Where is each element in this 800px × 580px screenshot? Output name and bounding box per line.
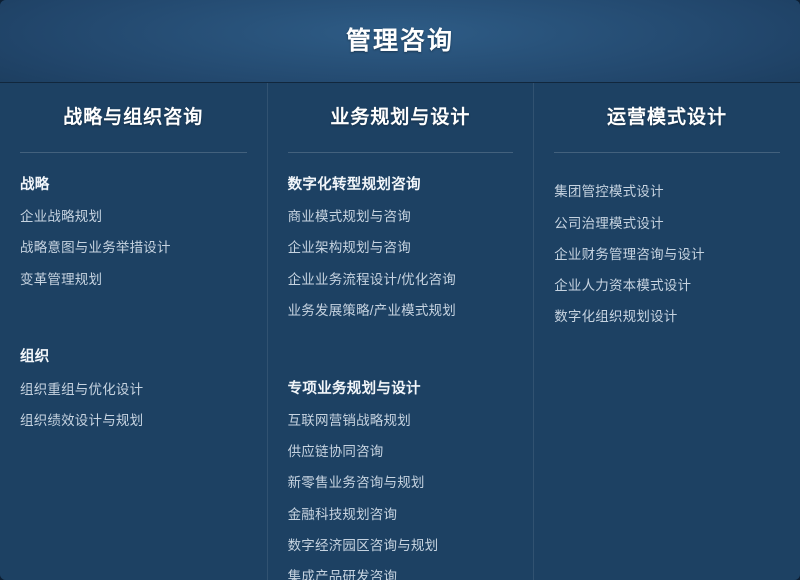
list-item[interactable]: 公司治理模式设计 xyxy=(554,208,780,239)
list-item[interactable]: 业务发展策略/产业模式规划 xyxy=(288,295,514,326)
list-item[interactable]: 企业架构规划与咨询 xyxy=(288,233,514,264)
column-divider xyxy=(288,152,514,153)
columns-container: 战略与组织咨询 战略 企业战略规划 战略意图与业务举措设计 变革管理规划 组织 … xyxy=(0,83,800,580)
section-operating-model: 集团管控模式设计 公司治理模式设计 企业财务管理咨询与设计 企业人力资本模式设计… xyxy=(554,177,780,333)
section-strategy: 战略 企业战略规划 战略意图与业务举措设计 变革管理规划 xyxy=(20,175,247,296)
section-item-list: 集团管控模式设计 公司治理模式设计 企业财务管理咨询与设计 企业人力资本模式设计… xyxy=(554,177,780,333)
section-item-list: 互联网营销战略规划 供应链协同咨询 新零售业务咨询与规划 金融科技规划咨询 数字… xyxy=(288,405,514,580)
section-digital-transformation: 数字化转型规划咨询 商业模式规划与咨询 企业架构规划与咨询 企业业务流程设计/优… xyxy=(288,175,514,327)
list-item[interactable]: 组织绩效设计与规划 xyxy=(20,405,247,436)
list-item[interactable]: 新零售业务咨询与规划 xyxy=(288,468,514,499)
column-divider xyxy=(20,152,247,153)
list-item[interactable]: 企业战略规划 xyxy=(20,202,247,233)
section-title: 战略 xyxy=(20,175,247,197)
column-title: 战略与组织咨询 xyxy=(20,107,247,130)
section-organization: 组织 组织重组与优化设计 组织绩效设计与规划 xyxy=(20,347,247,436)
section-title: 组织 xyxy=(20,347,247,369)
column-title: 业务规划与设计 xyxy=(288,107,514,130)
list-item[interactable]: 集团管控模式设计 xyxy=(554,177,780,208)
list-item[interactable]: 集成产品研发咨询 xyxy=(288,562,514,580)
column-title: 运营模式设计 xyxy=(554,107,780,130)
section-title: 专项业务规划与设计 xyxy=(288,379,514,401)
list-item[interactable]: 企业财务管理咨询与设计 xyxy=(554,239,780,270)
list-item[interactable]: 战略意图与业务举措设计 xyxy=(20,233,247,264)
column-strategy-organization: 战略与组织咨询 战略 企业战略规划 战略意图与业务举措设计 变革管理规划 组织 … xyxy=(0,83,267,580)
column-operating-model-design: 运营模式设计 集团管控模式设计 公司治理模式设计 企业财务管理咨询与设计 企业人… xyxy=(533,83,800,580)
panel-header: 管理咨询 xyxy=(0,0,800,83)
list-item[interactable]: 互联网营销战略规划 xyxy=(288,405,514,436)
list-item[interactable]: 供应链协同咨询 xyxy=(288,437,514,468)
section-item-list: 组织重组与优化设计 组织绩效设计与规划 xyxy=(20,374,247,437)
section-item-list: 商业模式规划与咨询 企业架构规划与咨询 企业业务流程设计/优化咨询 业务发展策略… xyxy=(288,202,514,327)
section-title: 数字化转型规划咨询 xyxy=(288,175,514,197)
list-item[interactable]: 商业模式规划与咨询 xyxy=(288,202,514,233)
list-item[interactable]: 金融科技规划咨询 xyxy=(288,499,514,530)
column-business-planning-design: 业务规划与设计 数字化转型规划咨询 商业模式规划与咨询 企业架构规划与咨询 企业… xyxy=(267,83,534,580)
page-title: 管理咨询 xyxy=(346,29,454,54)
list-item[interactable]: 企业人力资本模式设计 xyxy=(554,271,780,302)
column-divider xyxy=(554,152,780,153)
list-item[interactable]: 组织重组与优化设计 xyxy=(20,374,247,405)
list-item[interactable]: 数字经济园区咨询与规划 xyxy=(288,530,514,561)
section-item-list: 企业战略规划 战略意图与业务举措设计 变革管理规划 xyxy=(20,202,247,296)
section-special-business: 专项业务规划与设计 互联网营销战略规划 供应链协同咨询 新零售业务咨询与规划 金… xyxy=(288,379,514,580)
list-item[interactable]: 数字化组织规划设计 xyxy=(554,302,780,333)
list-item[interactable]: 变革管理规划 xyxy=(20,264,247,295)
management-consulting-panel: 管理咨询 战略与组织咨询 战略 企业战略规划 战略意图与业务举措设计 变革管理规… xyxy=(0,0,800,580)
list-item[interactable]: 企业业务流程设计/优化咨询 xyxy=(288,264,514,295)
